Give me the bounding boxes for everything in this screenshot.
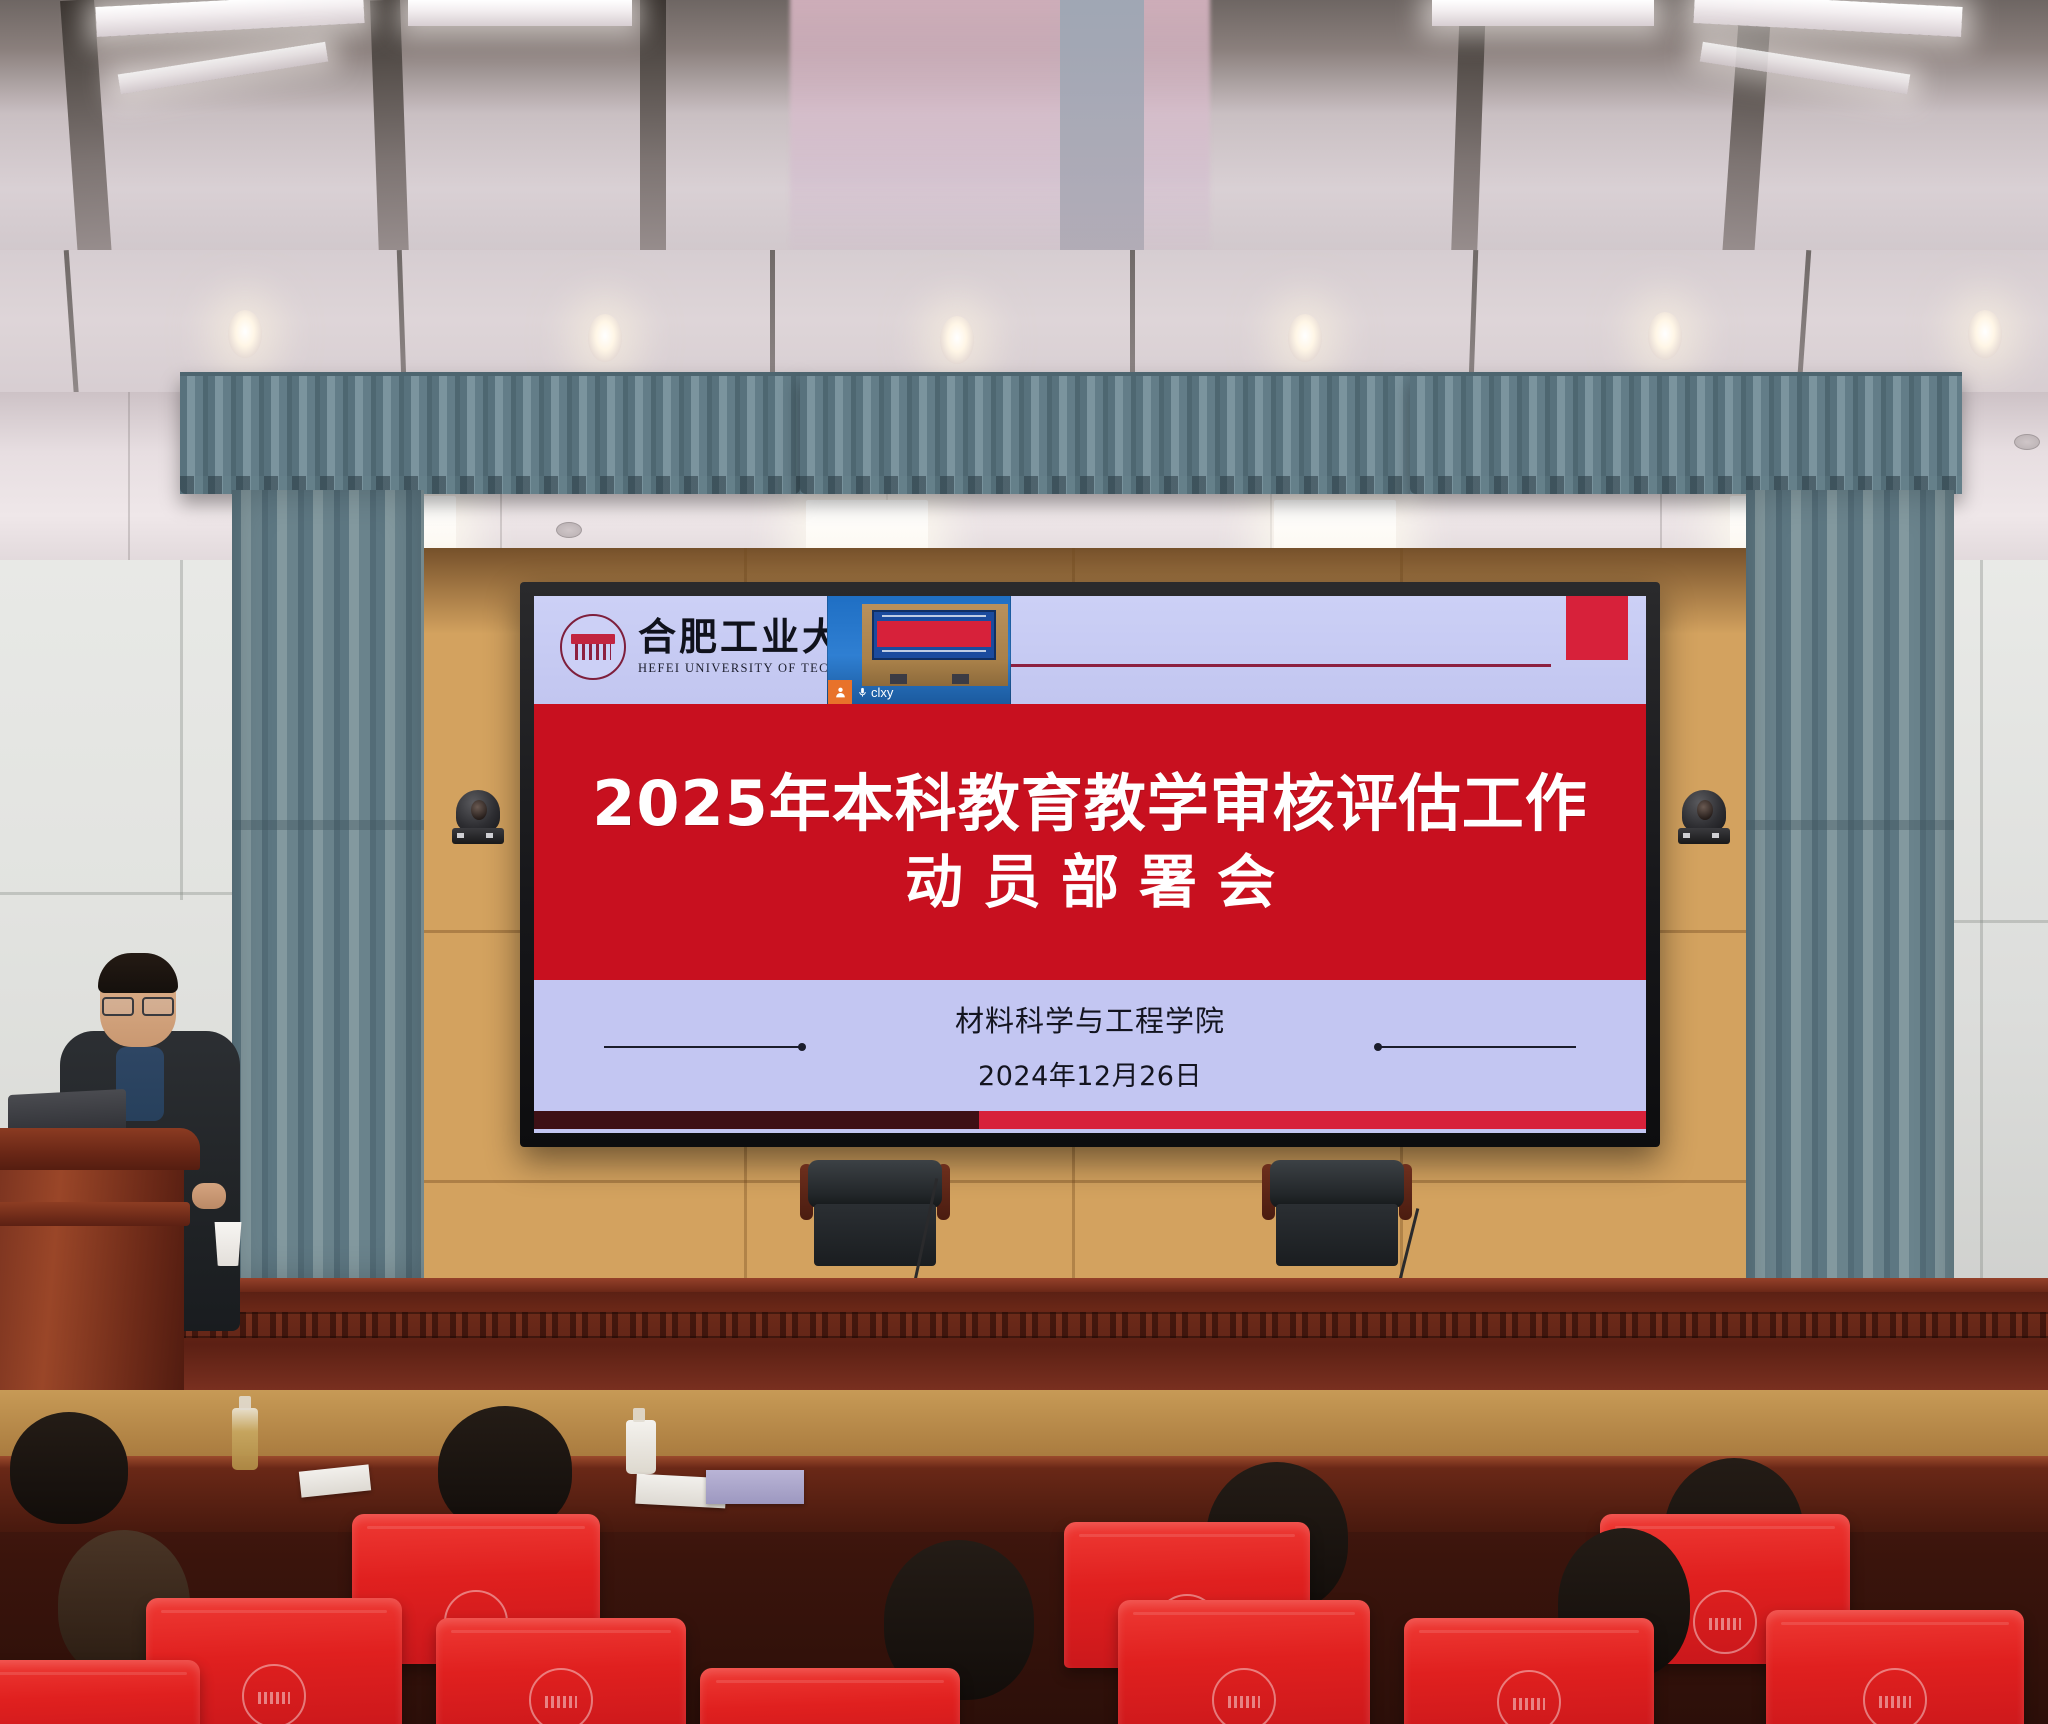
decorative-line-right xyxy=(1376,1046,1576,1048)
seat-logo-icon xyxy=(242,1664,306,1724)
slide-stripe-red xyxy=(979,1111,1646,1129)
ceiling-downlight xyxy=(1648,312,1682,360)
slide-title-band: 2025年本科教育教学审核评估工作 动员部署会 xyxy=(534,704,1646,980)
curtain-valance-right xyxy=(1410,372,1962,494)
table-top-edge xyxy=(0,1278,2048,1292)
projection-glow xyxy=(790,0,1210,270)
audience-seat xyxy=(436,1618,686,1724)
vc-remote-room xyxy=(862,604,1008,686)
water-bottle xyxy=(626,1420,656,1474)
ceiling-downlight xyxy=(1288,314,1322,362)
ceiling-upper xyxy=(0,0,2048,270)
audience-wood-rail xyxy=(0,1390,2048,1460)
slide-footer-band: 材料科学与工程学院 2024年12月26日 xyxy=(534,980,1646,1111)
ptz-camera-icon xyxy=(1678,790,1730,852)
vc-participant-name-wrap: clxy xyxy=(852,680,900,704)
smoke-detector-icon xyxy=(556,522,582,538)
ceiling-downlight xyxy=(1968,310,2002,358)
smoke-detector-icon xyxy=(2014,434,2040,450)
audience-seat xyxy=(1118,1600,1370,1724)
slide-stripe-dark xyxy=(534,1111,979,1129)
audience-head xyxy=(10,1412,128,1524)
slide-header-band: 合肥工业大学 HEFEI UNIVERSITY OF TECHNOLOGY xyxy=(534,596,1646,704)
ceiling-downlight xyxy=(940,316,974,364)
seat-logo-icon xyxy=(529,1668,593,1724)
ceiling-column xyxy=(1060,0,1144,270)
university-seal-icon xyxy=(560,614,626,680)
table-carved-trim xyxy=(0,1312,2048,1338)
seat-logo-icon xyxy=(1863,1668,1927,1724)
vc-remote-title-band xyxy=(877,621,991,647)
vc-participant-badge: clxy xyxy=(828,680,900,704)
slide-organization: 材料科学与工程学院 xyxy=(955,998,1225,1040)
audience-seat xyxy=(1404,1618,1654,1724)
audience-seat xyxy=(0,1660,200,1724)
slide-bottom-stripe xyxy=(534,1111,1646,1129)
vc-remote-screen xyxy=(872,610,996,660)
led-display-screen[interactable]: 合肥工业大学 HEFEI UNIVERSITY OF TECHNOLOGY xyxy=(520,582,1660,1147)
notebook xyxy=(706,1470,804,1504)
presentation-slide: 合肥工业大学 HEFEI UNIVERSITY OF TECHNOLOGY xyxy=(534,596,1646,1133)
seat-logo-icon xyxy=(1497,1670,1561,1724)
glasses-icon xyxy=(102,997,174,1012)
seat-logo-icon xyxy=(1212,1668,1276,1724)
stage-chair-right xyxy=(1262,1160,1412,1278)
curtain-valance-left xyxy=(180,372,800,494)
stage-curtain-right xyxy=(1746,490,1954,1320)
stage-curtain-left xyxy=(232,490,424,1280)
decorative-line-left xyxy=(604,1046,804,1048)
water-bottle xyxy=(232,1408,258,1470)
ptz-camera-icon xyxy=(452,790,504,852)
audience-seat xyxy=(1766,1610,2024,1724)
person-icon xyxy=(828,680,852,704)
ceiling-downlight xyxy=(588,314,622,362)
slide-date: 2024年12月26日 xyxy=(978,1054,1202,1093)
video-conference-inset[interactable]: clxy xyxy=(827,596,1011,704)
seat-logo-icon xyxy=(1693,1590,1757,1654)
ceiling-downlight xyxy=(228,310,262,358)
vc-participant-label: clxy xyxy=(871,685,893,700)
curtain-valance-mid xyxy=(800,372,1410,494)
slide-title-line-1: 2025年本科教育教学审核评估工作 xyxy=(592,773,1588,835)
microphone-icon xyxy=(857,686,868,699)
header-red-accent xyxy=(1566,596,1628,660)
audience-seat xyxy=(700,1668,960,1724)
auditorium-photo: 合肥工业大学 HEFEI UNIVERSITY OF TECHNOLOGY xyxy=(0,0,2048,1724)
slide-title-line-2: 动员部署会 xyxy=(885,853,1295,911)
